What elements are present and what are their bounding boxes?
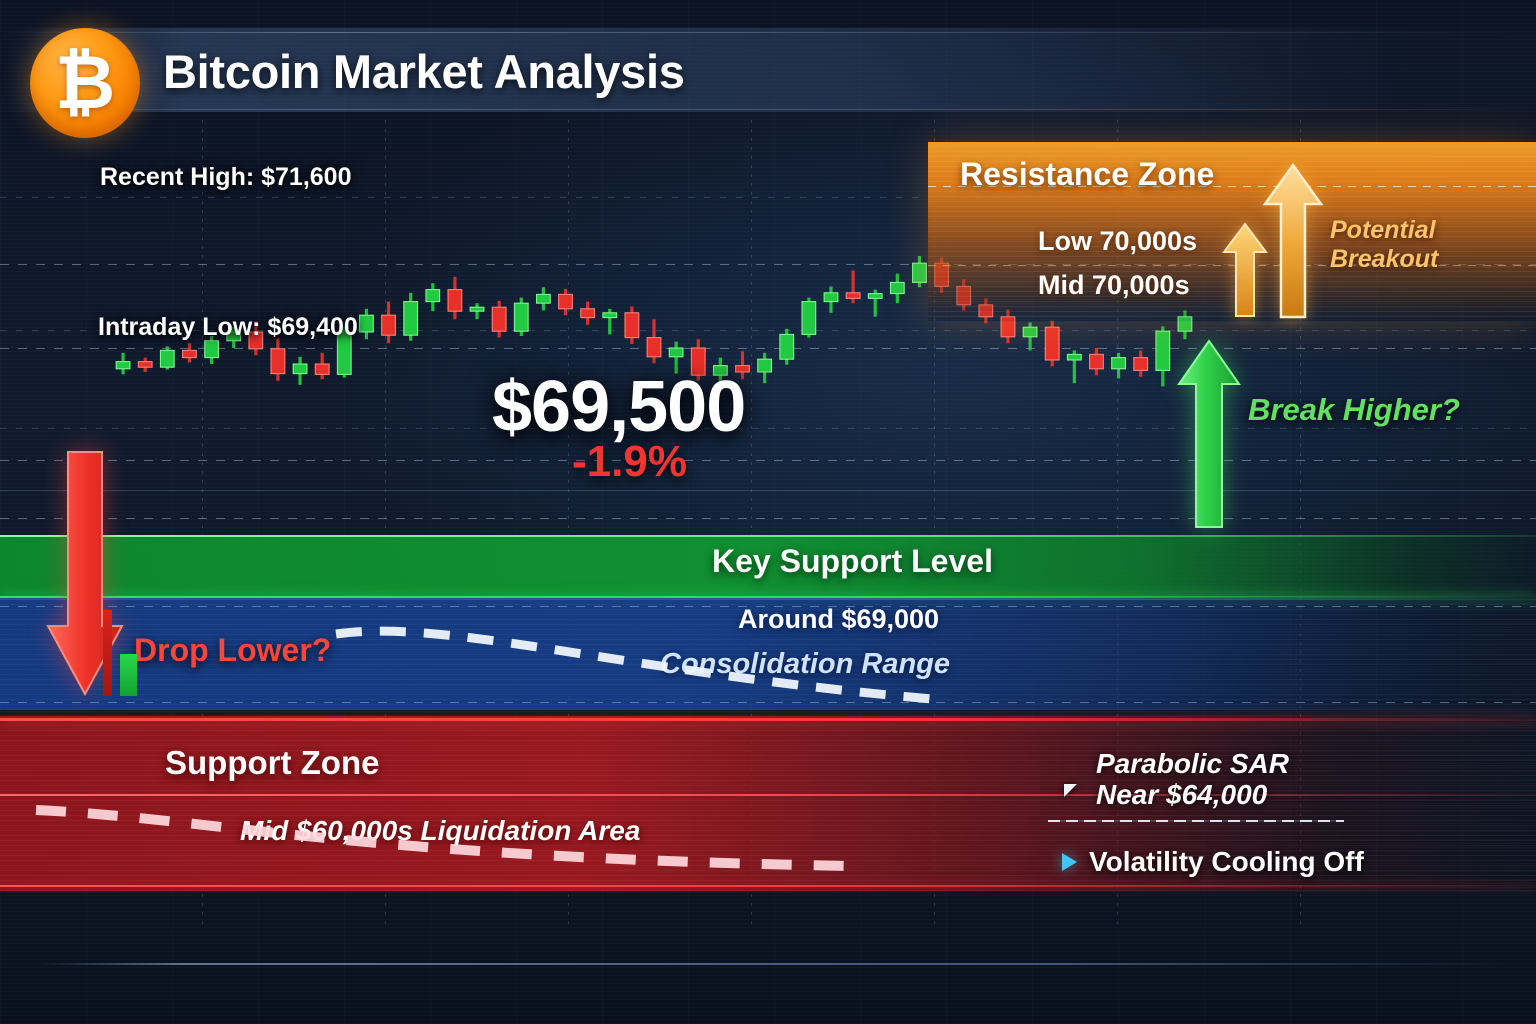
panel-divider: [1048, 820, 1344, 822]
breakout-arrow-large-icon: [1262, 162, 1324, 320]
support-band-top-line: [0, 535, 1536, 537]
bitcoin-icon: ₿: [30, 28, 140, 138]
break-higher-arrow-icon: [1176, 338, 1242, 535]
resistance-level-low: Low 70,000s: [1038, 226, 1197, 257]
volatility-bullet-icon: [1062, 853, 1077, 871]
parabolic-sar-title: Parabolic SAR: [1096, 748, 1396, 779]
price-change: -1.9%: [572, 437, 687, 487]
key-support-label: Key Support Level: [712, 543, 993, 580]
support-zone-title: Support Zone: [165, 744, 379, 782]
sar-marker-icon: [1064, 784, 1077, 797]
break-higher-label: Break Higher?: [1248, 392, 1460, 428]
intraday-low-label: Intraday Low: $69,400: [98, 313, 358, 342]
mini-bar-green: [120, 654, 137, 696]
consolidation-bottom-dashes: [0, 702, 1536, 703]
consolidation-range-label: Consolidation Range: [660, 648, 950, 681]
page-title: Bitcoin Market Analysis: [163, 44, 685, 99]
potential-breakout-label: Potential Breakout: [1330, 216, 1520, 274]
parabolic-sar-block: Parabolic SAR Near $64,000: [1096, 748, 1396, 811]
volatility-label: Volatility Cooling Off: [1089, 846, 1364, 878]
footer-divider: [40, 963, 1506, 965]
drop-lower-arrow-icon: [44, 448, 126, 703]
drop-lower-label: Drop Lower?: [134, 632, 331, 669]
key-support-value: Around $69,000: [738, 604, 939, 635]
mini-bar-red: [103, 610, 112, 696]
recent-high-label: Recent High: $71,600: [100, 163, 352, 192]
current-price: $69,500: [492, 366, 745, 448]
support-zone-top-line: [0, 718, 1536, 721]
bitcoin-glyph: ₿: [55, 46, 115, 120]
infographic-canvas: ₿ Bitcoin Market Analysis Recent High: $…: [0, 0, 1536, 1024]
resistance-level-mid: Mid 70,000s: [1038, 270, 1190, 301]
resistance-zone-title: Resistance Zone: [960, 156, 1214, 193]
parabolic-sar-value: Near $64,000: [1096, 779, 1396, 810]
support-zone-bottom-line: [0, 885, 1536, 887]
volatility-row: Volatility Cooling Off: [1062, 846, 1364, 878]
liquidation-area-label: Mid $60,000s Liquidation Area: [240, 815, 640, 847]
